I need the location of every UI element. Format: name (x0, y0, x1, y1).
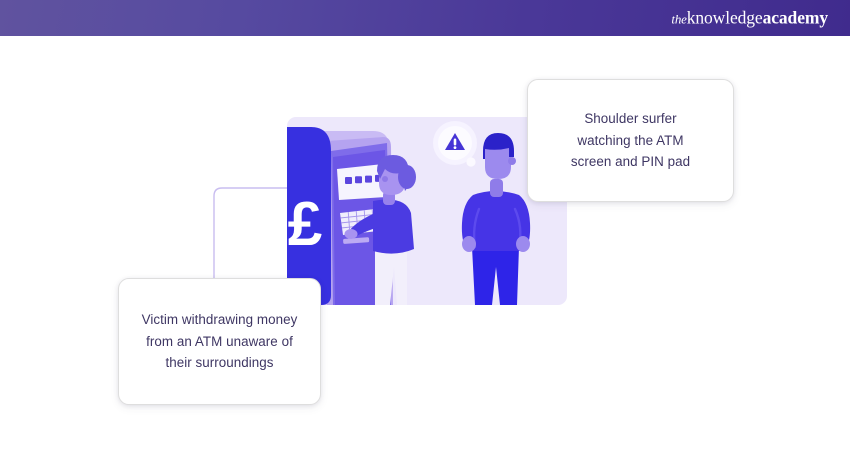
illustration-panel: £ (287, 117, 567, 305)
warning-bubble-tail (466, 157, 475, 166)
currency-symbol-pound: £ (288, 190, 322, 259)
callout-victim-text: Victim withdrawing money from an ATM una… (128, 309, 312, 375)
brand-logo-the: the (671, 11, 686, 26)
victim-ear (382, 176, 388, 182)
brand-logo-academy: academy (763, 7, 828, 27)
surfer-ear (508, 157, 516, 165)
surfer-hand-right (516, 236, 530, 252)
victim-hair-bun (398, 165, 416, 189)
brand-logo-knowledge: knowledge (687, 7, 763, 27)
warning-exclamation-dot (454, 146, 457, 149)
callout-victim: Victim withdrawing money from an ATM una… (118, 278, 321, 405)
atm-shoulder-surfing-illustration: £ (287, 117, 567, 305)
callout-shoulder-surfer-text: Shoulder surfer watching the ATM screen … (557, 108, 704, 174)
surfer-neck (490, 179, 503, 197)
callout-shoulder-surfer: Shoulder surfer watching the ATM screen … (527, 79, 734, 202)
header-bar: theknowledgeacademy (0, 0, 850, 36)
surfer-hand-left (462, 236, 476, 252)
warning-exclamation-bar (454, 139, 457, 146)
infographic-canvas: theknowledgeacademy (0, 0, 850, 450)
brand-logo: theknowledgeacademy (671, 9, 828, 27)
victim-hand (345, 229, 358, 239)
victim-sweater (373, 200, 414, 254)
